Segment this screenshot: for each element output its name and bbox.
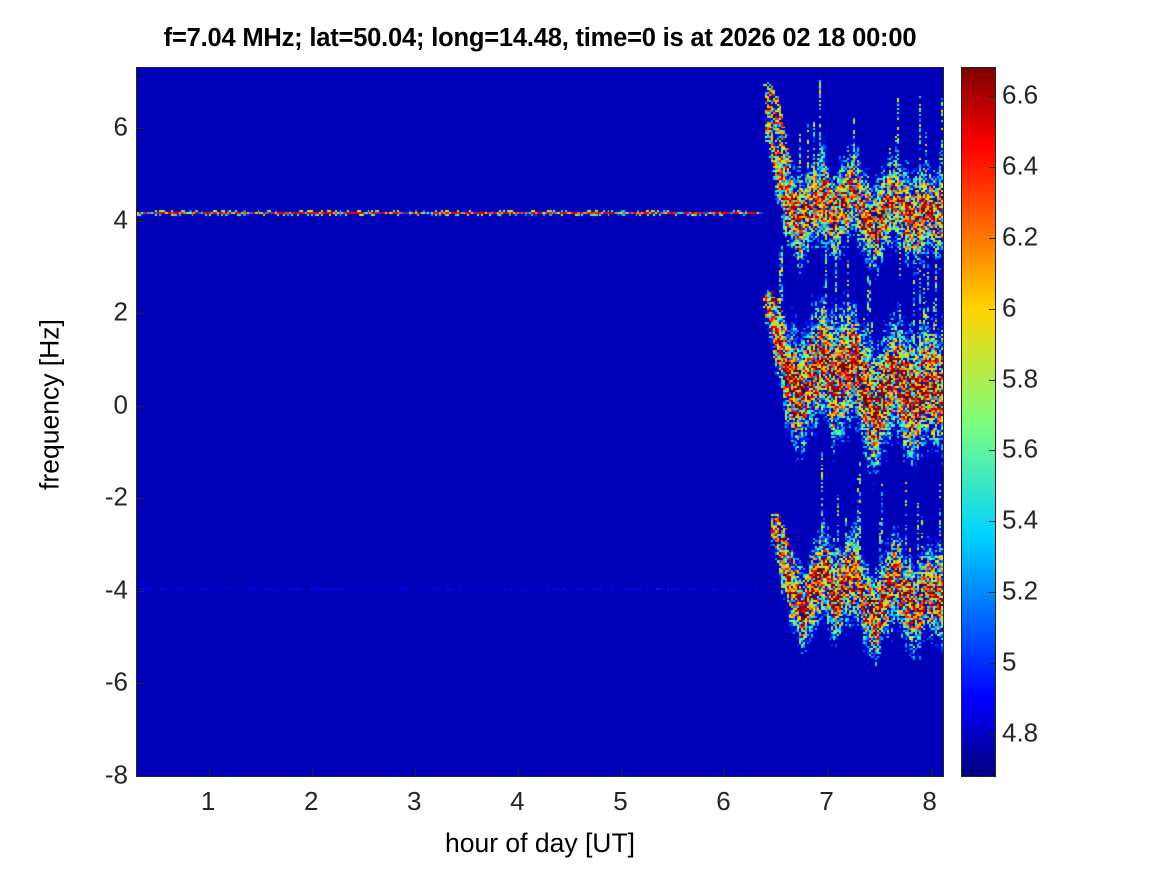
x-tick-mark [518, 769, 519, 776]
colorbar-gradient [962, 68, 995, 776]
x-tick-label: 7 [797, 786, 857, 817]
x-tick-mark [312, 769, 313, 776]
y-tick-label: -8 [88, 760, 128, 791]
x-axis-tick-labels: 12345678 [136, 786, 944, 820]
colorbar-tick-mark [989, 592, 995, 593]
x-tick-mark [931, 769, 932, 776]
y-tick-mark [137, 313, 144, 314]
colorbar-tick-label: 6.2 [1002, 221, 1092, 252]
colorbar-tick-label: 6.4 [1002, 151, 1092, 182]
y-tick-mark [137, 406, 144, 407]
colorbar-tick-mark [989, 450, 995, 451]
y-tick-label: 2 [88, 297, 128, 328]
colorbar-tick-label: 5.6 [1002, 434, 1092, 465]
colorbar-tick-label: 5 [1002, 646, 1092, 677]
colorbar-tick-mark [989, 309, 995, 310]
colorbar-tick-labels: 4.855.25.45.65.866.26.46.6 [1002, 67, 1092, 777]
x-axis-label: hour of day [UT] [136, 828, 944, 859]
spectrogram-image[interactable] [137, 68, 943, 776]
y-axis-tick-labels: 6420-2-4-6-8 [78, 67, 128, 777]
x-tick-mark [415, 769, 416, 776]
colorbar-tick-mark [989, 521, 995, 522]
y-tick-label: 6 [88, 112, 128, 143]
y-tick-mark [137, 591, 144, 592]
colorbar-tick-label: 5.4 [1002, 505, 1092, 536]
figure-canvas: f=7.04 MHz; lat=50.04; long=14.48, time=… [0, 0, 1167, 875]
colorbar-tick-mark [989, 734, 995, 735]
colorbar-tick-mark [989, 96, 995, 97]
colorbar-tick-label: 4.8 [1002, 717, 1092, 748]
y-tick-label: -6 [88, 667, 128, 698]
y-tick-label: 0 [88, 389, 128, 420]
x-tick-label: 6 [693, 786, 753, 817]
colorbar-tick-label: 6.6 [1002, 80, 1092, 111]
colorbar-tick-label: 5.2 [1002, 575, 1092, 606]
y-tick-mark [137, 221, 144, 222]
x-tick-label: 5 [590, 786, 650, 817]
colorbar-tick-mark [989, 663, 995, 664]
y-tick-label: -2 [88, 482, 128, 513]
x-tick-mark [621, 769, 622, 776]
colorbar-tick-mark [989, 167, 995, 168]
x-tick-mark [724, 769, 725, 776]
y-tick-label: -4 [88, 574, 128, 605]
x-tick-label: 3 [384, 786, 444, 817]
y-tick-mark [137, 683, 144, 684]
colorbar-tick-mark [989, 380, 995, 381]
x-tick-mark [828, 769, 829, 776]
x-tick-label: 4 [487, 786, 547, 817]
y-tick-mark [137, 498, 144, 499]
colorbar-tick-mark [989, 238, 995, 239]
colorbar-tick-label: 5.8 [1002, 363, 1092, 394]
spectrogram-axes[interactable] [136, 67, 944, 777]
y-axis-label: frequency [Hz] [35, 50, 66, 760]
x-tick-label: 8 [900, 786, 960, 817]
x-tick-label: 2 [281, 786, 341, 817]
x-tick-mark [209, 769, 210, 776]
colorbar-tick-label: 6 [1002, 292, 1092, 323]
y-tick-mark [137, 128, 144, 129]
plot-title: f=7.04 MHz; lat=50.04; long=14.48, time=… [136, 24, 944, 53]
colorbar[interactable] [961, 67, 996, 777]
y-tick-mark [137, 776, 144, 777]
x-tick-label: 1 [178, 786, 238, 817]
y-tick-label: 4 [88, 204, 128, 235]
